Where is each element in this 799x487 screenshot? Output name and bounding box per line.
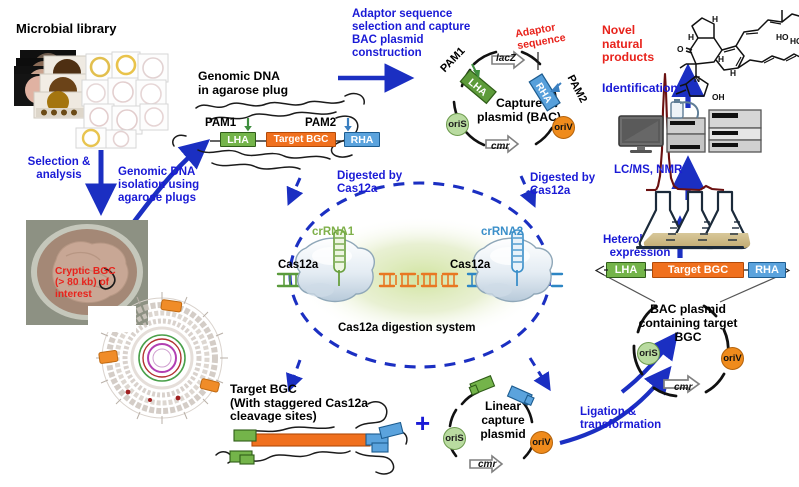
atom-H4: H — [730, 68, 736, 78]
lacz-label: lacZ — [496, 53, 516, 64]
pam2-arrow-top — [343, 117, 359, 133]
oris-linear: oriS — [443, 427, 466, 450]
oriv-capture: oriV — [552, 116, 575, 139]
atom-HO2: HO — [790, 36, 799, 46]
genomic-dna-title: Genomic DNA in agarose plug — [198, 70, 288, 97]
lcms-nmr-label: LC/MS, NMR — [614, 164, 682, 177]
cas12a-left-label: Cas12a — [278, 259, 318, 271]
plus-sign: + — [415, 408, 430, 439]
atom-OH1: OH — [712, 92, 725, 102]
heterologous-expression-label: Heterologous expression — [598, 234, 682, 260]
cmr-label-bac-product: cmr — [674, 382, 692, 393]
lha-box-product: LHA — [606, 262, 646, 278]
ligation-transformation-label: Ligation & transformation — [580, 406, 661, 432]
oris-bac-product: oriS — [637, 342, 660, 365]
cas12a-system-title: Cas12a digestion system — [338, 322, 475, 334]
identification-label: Identification — [602, 82, 678, 96]
digested-left-label: Digested by Cas12a — [337, 170, 402, 196]
rha-box-gdna: RHA — [344, 132, 380, 147]
figure-canvas: Microbial library Selection & analysis C… — [0, 0, 799, 482]
atom-O: O — [677, 44, 684, 54]
pam2-label-top: PAM2 — [305, 117, 336, 130]
digested-right-label: Digested by Cas12a — [530, 172, 595, 198]
atom-H1: H — [712, 14, 718, 24]
capture-plasmid-title: Capture plasmid (BAC) — [476, 96, 562, 124]
crrna2-label: crRNA2 — [481, 226, 523, 238]
atom-HO1: HO — [776, 32, 789, 42]
cmr-label-capture: cmr — [491, 141, 509, 152]
cas12a-right-label: Cas12a — [450, 259, 490, 271]
atom-H3: H — [718, 54, 724, 64]
atom-H2: H — [688, 32, 694, 42]
pam1-label-top: PAM1 — [205, 117, 236, 130]
lha-box-gdna: LHA — [220, 132, 256, 147]
crrna1-label: crRNA1 — [312, 226, 354, 238]
atom-N: N — [694, 74, 700, 84]
pam1-arrow-top — [243, 117, 259, 133]
target-bgc-box-product: Target BGC — [652, 262, 744, 278]
oriv-linear: oriV — [530, 431, 553, 454]
cmr-label-linear: cmr — [478, 459, 496, 470]
novel-natural-products-label: Novel natural products — [602, 24, 668, 65]
microbial-library-label: Microbial library — [16, 22, 116, 37]
rha-box-product: RHA — [748, 262, 786, 278]
gdna-isolation-label: Genomic DNA isolation using agarose plug… — [118, 166, 218, 205]
oriv-bac-product: oriV — [721, 347, 744, 370]
selection-analysis-label: Selection & analysis — [22, 156, 96, 182]
oris-capture: oriS — [446, 113, 469, 136]
microbial-library-photo — [14, 44, 174, 150]
target-bgc-box-gdna: Target BGC — [266, 132, 336, 147]
bac-product-title: BAC plasmid containing target BGC — [629, 302, 747, 344]
cas12a-digestion-system — [272, 190, 572, 380]
cryptic-bgc-callout-box — [88, 306, 136, 332]
linear-capture-plasmid-title: Linear capture plasmid — [474, 400, 532, 441]
target-bgc-product-label: Target BGC (With staggered Cas12a cleava… — [230, 383, 400, 424]
natural-product-structure: O N H H H H OH OH OH HO HO — [672, 2, 799, 112]
target-bgc-fragment — [230, 425, 440, 475]
lcms-instrument — [617, 100, 767, 162]
